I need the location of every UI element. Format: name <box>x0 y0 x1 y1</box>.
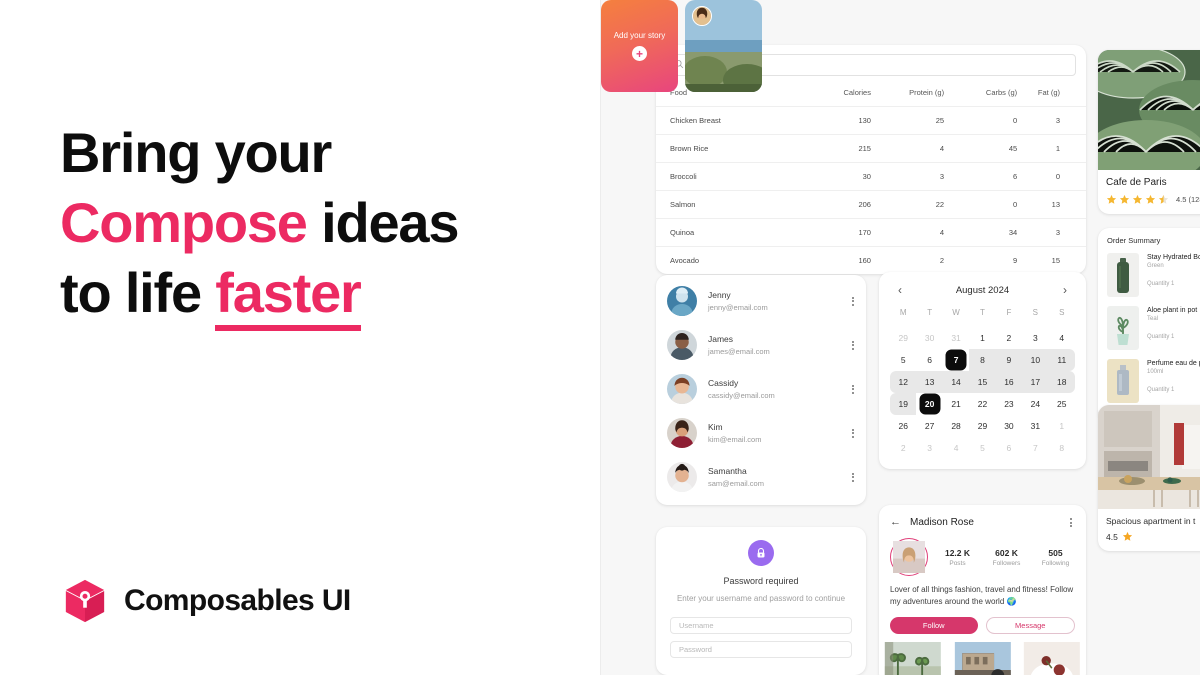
cell-food: Salmon <box>656 191 798 219</box>
calendar-day[interactable]: 16 <box>996 371 1022 393</box>
restaurant-title: Cafe de Paris <box>1106 177 1200 188</box>
calendar-day[interactable]: 21 <box>943 393 969 415</box>
contact-email: jenny@email.com <box>708 303 838 312</box>
calendar-header: ‹ August 2024 › <box>890 283 1075 308</box>
col-protein[interactable]: Protein (g) <box>871 83 944 107</box>
calendar-day-number: 10 <box>1031 355 1040 365</box>
calendar-day-number: 5 <box>980 443 985 453</box>
calendar-day-number: 7 <box>954 355 959 365</box>
contact-email: sam@email.com <box>708 479 838 488</box>
calendar-day-number: 29 <box>898 333 907 343</box>
calendar-day[interactable]: 2 <box>890 437 916 459</box>
calendar-day-number: 5 <box>901 355 906 365</box>
chevron-right-icon[interactable]: › <box>1061 284 1069 296</box>
calendar-day[interactable]: 6 <box>916 349 942 371</box>
avatar <box>667 286 697 316</box>
product-thumbnail <box>1107 253 1139 297</box>
table-row[interactable]: Quinoa 170 4 34 3 <box>656 219 1086 247</box>
cell-calories: 206 <box>798 191 871 219</box>
calendar-day-number: 24 <box>1031 399 1040 409</box>
dow-label: F <box>996 308 1022 327</box>
headline-line-2-rest: ideas <box>307 191 459 254</box>
calendar-day[interactable]: 27 <box>916 415 942 437</box>
order-summary-card: Order Summary Stay Hydrated Bottle Green… <box>1098 228 1200 421</box>
table-row[interactable]: Salmon 206 22 0 13 <box>656 191 1086 219</box>
order-item-meta: Stay Hydrated Bottle Green Quantity 1 <box>1147 253 1200 297</box>
cell-fat: 15 <box>1017 247 1086 275</box>
table-body: Chicken Breast 130 25 0 3 Brown Rice 215… <box>656 107 1086 275</box>
rating-value: 4.5 <box>1106 532 1118 542</box>
calendar-day[interactable]: 19 <box>890 393 916 415</box>
more-options-icon[interactable] <box>849 382 857 397</box>
avatar[interactable] <box>890 538 928 576</box>
apartment-listing-card[interactable]: Spacious apartment in t 4.5 <box>1098 405 1200 551</box>
rating-row: 4.5 <box>1106 531 1200 542</box>
cell-carbs: 9 <box>944 247 1017 275</box>
cell-carbs: 0 <box>944 107 1017 135</box>
list-item[interactable]: Samantha sam@email.com <box>656 455 866 499</box>
restaurant-card[interactable]: Cafe de Paris 4.5 (128 <box>1098 50 1200 214</box>
calendar-day[interactable]: 17 <box>1022 371 1048 393</box>
calendar-day-number: 30 <box>925 333 934 343</box>
calendar-day-number: 7 <box>1033 443 1038 453</box>
calendar-day[interactable]: 6 <box>996 437 1022 459</box>
avatar <box>667 374 697 404</box>
stat-followers: 602 K Followers <box>987 548 1026 567</box>
stat-following: 505 Following <box>1036 548 1075 567</box>
calendar-day-number: 8 <box>1059 443 1064 453</box>
calendar-day[interactable]: 18 <box>1049 371 1075 393</box>
brand-name: Composables UI <box>124 584 351 618</box>
calendar-day-number: 8 <box>980 355 985 365</box>
apartment-body: Spacious apartment in t 4.5 <box>1098 509 1200 551</box>
calendar-day[interactable]: 7 <box>1022 437 1048 459</box>
profile-photo-grid <box>879 642 1086 675</box>
dow-label: T <box>969 308 995 327</box>
dow-label: T <box>916 308 942 327</box>
chevron-left-icon[interactable]: ‹ <box>896 284 904 296</box>
password-subtitle: Enter your username and password to cont… <box>670 593 852 605</box>
calendar-day[interactable]: 12 <box>890 371 916 393</box>
order-item[interactable]: Stay Hydrated Bottle Green Quantity 1 <box>1107 253 1200 297</box>
product-thumbnail <box>1107 306 1139 350</box>
apartment-title: Spacious apartment in t <box>1106 516 1200 526</box>
calendar-day-number: 1 <box>980 333 985 343</box>
list-item[interactable]: James james@email.com <box>656 323 866 367</box>
page-title: Bring your Compose ideas to life faster <box>60 118 458 328</box>
date-range-calendar-card: ‹ August 2024 › M T W T F S S 2930311234… <box>879 272 1086 469</box>
password-field[interactable]: Password <box>670 641 852 658</box>
contact-name: Cassidy <box>708 378 838 388</box>
more-options-icon[interactable] <box>849 470 857 485</box>
calendar-day[interactable]: 1 <box>1049 415 1075 437</box>
message-button[interactable]: Message <box>986 617 1076 634</box>
calendar-day-number: 20 <box>925 399 934 409</box>
contact-name: Samantha <box>708 466 838 476</box>
contact-meta: Samantha sam@email.com <box>708 466 838 488</box>
calendar-day[interactable]: 9 <box>996 349 1022 371</box>
cell-calories: 160 <box>798 247 871 275</box>
product-name: Stay Hydrated Bottle <box>1147 254 1200 261</box>
calendar-day-number: 14 <box>951 377 960 387</box>
photo-thumbnail[interactable] <box>949 642 1017 675</box>
profile-stats: 12.2 K Posts 602 K Followers 505 Followi… <box>879 536 1086 580</box>
photo-thumbnail[interactable] <box>1018 642 1086 675</box>
product-quantity: Quantity 1 <box>1147 387 1200 393</box>
calendar-day[interactable]: 2 <box>996 327 1022 349</box>
dow-label: S <box>1049 308 1075 327</box>
calendar-day-number: 31 <box>1031 421 1040 431</box>
cell-protein: 4 <box>871 135 944 163</box>
calendar-day[interactable]: 30 <box>996 415 1022 437</box>
calendar-day-selected[interactable]: 7 <box>943 349 969 371</box>
headline-line-1: Bring your <box>60 121 331 184</box>
list-item[interactable]: Kim kim@email.com <box>656 411 866 455</box>
contact-meta: Cassidy cassidy@email.com <box>708 378 838 400</box>
cell-carbs: 45 <box>944 135 1017 163</box>
star-icon <box>1106 194 1117 205</box>
contact-meta: Kim kim@email.com <box>708 422 838 444</box>
restaurant-image <box>1098 50 1200 170</box>
calendar-day-number: 25 <box>1057 399 1066 409</box>
cell-food: Avocado <box>656 247 798 275</box>
calendar-day-number: 30 <box>1004 421 1013 431</box>
cell-carbs: 0 <box>944 191 1017 219</box>
calendar-day[interactable]: 4 <box>1049 327 1075 349</box>
order-item-meta: Aloe plant in pot Teal Quantity 1 <box>1147 306 1200 350</box>
calendar-day[interactable]: 29 <box>890 327 916 349</box>
cell-protein: 3 <box>871 163 944 191</box>
calendar-day-number: 21 <box>951 399 960 409</box>
follow-button[interactable]: Follow <box>890 617 978 634</box>
avatar-image <box>893 560 925 577</box>
rating-row: 4.5 (128 <box>1106 194 1200 205</box>
stat-label: Followers <box>987 560 1026 567</box>
calendar-day-number: 12 <box>898 377 907 387</box>
order-item[interactable]: Perfume eau de parfu 100ml Quantity 1 <box>1107 359 1200 403</box>
calendar-day-number: 19 <box>898 399 907 409</box>
table-row[interactable]: Broccoli 30 3 6 0 <box>656 163 1086 191</box>
calendar-month-title: August 2024 <box>956 285 1009 296</box>
order-item[interactable]: Aloe plant in pot Teal Quantity 1 <box>1107 306 1200 350</box>
calendar-day-number: 4 <box>1059 333 1064 343</box>
story-row: Add your story + <box>601 0 731 92</box>
contacts-list-card: Jenny jenny@email.com James james@email.… <box>656 275 866 505</box>
social-profile-card: ← Madison Rose 12.2 K Posts 602 K Follow… <box>879 505 1086 675</box>
calendar-day-number: 2 <box>1007 333 1012 343</box>
calendar-day[interactable]: 10 <box>1022 349 1048 371</box>
username-field[interactable]: Username <box>670 617 852 634</box>
calendar-day[interactable]: 22 <box>969 393 995 415</box>
star-icon <box>1122 531 1133 542</box>
table-row[interactable]: Chicken Breast 130 25 0 3 <box>656 107 1086 135</box>
cell-fat: 0 <box>1017 163 1086 191</box>
contact-email: james@email.com <box>708 347 838 356</box>
password-title: Password required <box>670 576 852 586</box>
product-variant: Green <box>1147 263 1200 269</box>
order-summary-title: Order Summary <box>1107 236 1200 245</box>
calendar-day-number: 1 <box>1059 421 1064 431</box>
promo-screenshot: Bring your Compose ideas to life faster … <box>0 0 1200 675</box>
story-item[interactable] <box>685 0 762 92</box>
dow-label: S <box>1022 308 1048 327</box>
product-quantity: Quantity 1 <box>1147 281 1200 287</box>
calendar-day[interactable]: 30 <box>916 327 942 349</box>
cell-food: Quinoa <box>656 219 798 247</box>
more-options-icon[interactable] <box>849 338 857 353</box>
stat-value: 12.2 K <box>938 548 977 558</box>
headline-accent-faster: faster <box>215 261 360 331</box>
avatar <box>667 462 697 492</box>
cell-calories: 30 <box>798 163 871 191</box>
calendar-day[interactable]: 23 <box>996 393 1022 415</box>
col-carbs[interactable]: Carbs (g) <box>944 83 1017 107</box>
more-options-icon[interactable] <box>849 426 857 441</box>
cell-food: Chicken Breast <box>656 107 798 135</box>
profile-name: Madison Rose <box>910 517 1058 528</box>
stories-row-card: Add your story + <box>601 0 731 92</box>
cell-food: Broccoli <box>656 163 798 191</box>
cell-fat: 1 <box>1017 135 1086 163</box>
rating-text: 4.5 (128 <box>1176 195 1200 204</box>
calendar-day[interactable]: 4 <box>943 437 969 459</box>
calendar-day[interactable]: 25 <box>1049 393 1075 415</box>
profile-bio: Lover of all things fashion, travel and … <box>879 580 1086 617</box>
calendar-day-number: 16 <box>1004 377 1013 387</box>
calendar-day[interactable]: 5 <box>969 437 995 459</box>
calendar-day-number: 29 <box>978 421 987 431</box>
dow-label: W <box>943 308 969 327</box>
calendar-day-number: 31 <box>951 333 960 343</box>
stat-label: Following <box>1036 560 1075 567</box>
stat-posts: 12.2 K Posts <box>938 548 977 567</box>
calendar-day-selected[interactable]: 20 <box>916 393 942 415</box>
calendar-day[interactable]: 26 <box>890 415 916 437</box>
cell-calories: 130 <box>798 107 871 135</box>
cell-calories: 215 <box>798 135 871 163</box>
product-name: Perfume eau de parfu <box>1147 360 1200 367</box>
apartment-image <box>1098 405 1200 509</box>
contact-email: kim@email.com <box>708 435 838 444</box>
hero-panel: Bring your Compose ideas to life faster … <box>0 0 600 675</box>
contact-meta: Jenny jenny@email.com <box>708 290 838 312</box>
calendar-day[interactable]: 11 <box>1049 349 1075 371</box>
star-half-icon <box>1158 194 1169 205</box>
calendar-day-number: 9 <box>1007 355 1012 365</box>
cell-protein: 22 <box>871 191 944 219</box>
calendar-day[interactable]: 14 <box>943 371 969 393</box>
cube-logo-icon <box>62 578 108 624</box>
calendar-day[interactable]: 13 <box>916 371 942 393</box>
dow-label: M <box>890 308 916 327</box>
avatar <box>667 418 697 448</box>
cell-fat: 13 <box>1017 191 1086 219</box>
table-row[interactable]: Brown Rice 215 4 45 1 <box>656 135 1086 163</box>
product-thumbnail <box>1107 359 1139 403</box>
calendar-day[interactable]: 3 <box>1022 327 1048 349</box>
order-item-meta: Perfume eau de parfu 100ml Quantity 1 <box>1147 359 1200 403</box>
contact-name: James <box>708 334 838 344</box>
calendar-day-number: 6 <box>927 355 932 365</box>
calendar-day-number: 11 <box>1057 355 1066 365</box>
stat-value: 505 <box>1036 548 1075 558</box>
star-icon <box>1119 194 1130 205</box>
calendar-day-number: 13 <box>925 377 934 387</box>
cell-carbs: 34 <box>944 219 1017 247</box>
contact-email: cassidy@email.com <box>708 391 838 400</box>
contact-name: Kim <box>708 422 838 432</box>
calendar-day[interactable]: 24 <box>1022 393 1048 415</box>
star-icon <box>1145 194 1156 205</box>
calendar-day-number: 23 <box>1004 399 1013 409</box>
calendar-day-number: 22 <box>978 399 987 409</box>
headline-line-3: to life <box>60 261 215 324</box>
cell-carbs: 6 <box>944 163 1017 191</box>
cell-calories: 170 <box>798 219 871 247</box>
calendar-day-number: 28 <box>951 421 960 431</box>
lock-icon <box>748 540 774 566</box>
calendar-day[interactable]: 1 <box>969 327 995 349</box>
brand-logo: Composables UI <box>62 578 351 624</box>
product-name: Aloe plant in pot <box>1147 307 1200 314</box>
cell-fat: 3 <box>1017 219 1086 247</box>
calendar-day[interactable]: 8 <box>969 349 995 371</box>
stat-value: 602 K <box>987 548 1026 558</box>
calendar-day-number: 17 <box>1031 377 1040 387</box>
add-story-label: Add your story <box>614 31 666 40</box>
back-arrow-icon[interactable]: ← <box>890 517 901 528</box>
contact-name: Jenny <box>708 290 838 300</box>
calendar-day[interactable]: 8 <box>1049 437 1075 459</box>
calendar-day[interactable]: 5 <box>890 349 916 371</box>
calendar-day-number: 18 <box>1057 377 1066 387</box>
list-item[interactable]: Jenny jenny@email.com <box>656 279 866 323</box>
calendar-day-number: 3 <box>927 443 932 453</box>
calendar-day-number: 27 <box>925 421 934 431</box>
photo-thumbnail[interactable] <box>879 642 947 675</box>
product-variant: Teal <box>1147 316 1200 322</box>
calendar-day-number: 2 <box>901 443 906 453</box>
calendar-day[interactable]: 31 <box>1022 415 1048 437</box>
calendar-day[interactable]: 28 <box>943 415 969 437</box>
plus-icon[interactable]: + <box>632 46 647 61</box>
cell-protein: 25 <box>871 107 944 135</box>
nutrition-table: Food Calories Protein (g) Carbs (g) Fat … <box>656 83 1086 274</box>
col-calories[interactable]: Calories <box>798 83 871 107</box>
password-required-card: Password required Enter your username an… <box>656 527 866 675</box>
cell-protein: 2 <box>871 247 944 275</box>
calendar-day-number: 3 <box>1033 333 1038 343</box>
calendar-day[interactable]: 15 <box>969 371 995 393</box>
calendar-day-number: 4 <box>954 443 959 453</box>
product-quantity: Quantity 1 <box>1147 334 1200 340</box>
profile-actions: Follow Message <box>879 617 1086 642</box>
star-icon <box>1132 194 1143 205</box>
cell-food: Brown Rice <box>656 135 798 163</box>
components-showcase-panel: Search... Food Calories Protein (g) Carb… <box>600 0 1200 675</box>
add-story-button[interactable]: Add your story + <box>601 0 678 92</box>
stat-label: Posts <box>938 560 977 567</box>
calendar-day[interactable]: 31 <box>943 327 969 349</box>
contact-meta: James james@email.com <box>708 334 838 356</box>
product-variant: 100ml <box>1147 369 1200 375</box>
cell-protein: 4 <box>871 219 944 247</box>
cell-fat: 3 <box>1017 107 1086 135</box>
profile-header: ← Madison Rose <box>879 505 1086 536</box>
table-row[interactable]: Avocado 160 2 9 15 <box>656 247 1086 275</box>
headline-accent-compose: Compose <box>60 191 307 254</box>
more-options-icon[interactable] <box>849 294 857 309</box>
calendar-day-number: 6 <box>1007 443 1012 453</box>
avatar <box>692 6 712 26</box>
calendar-day-number: 26 <box>898 421 907 431</box>
calendar-day[interactable]: 29 <box>969 415 995 437</box>
calendar-day[interactable]: 3 <box>916 437 942 459</box>
list-item[interactable]: Cassidy cassidy@email.com <box>656 367 866 411</box>
avatar <box>667 330 697 360</box>
restaurant-body: Cafe de Paris 4.5 (128 <box>1098 170 1200 214</box>
col-fat[interactable]: Fat (g) <box>1017 83 1086 107</box>
calendar-day-number: 15 <box>978 377 987 387</box>
more-options-icon[interactable] <box>1067 515 1075 530</box>
calendar-grid: M T W T F S S 29303112345678910111213141… <box>890 308 1075 459</box>
